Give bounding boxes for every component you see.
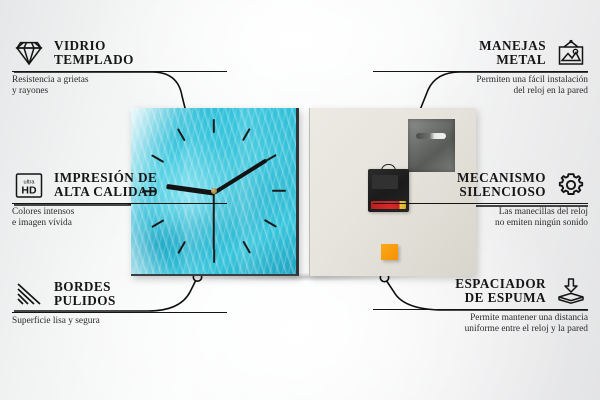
- feature-mechanism-desc: Las manecillas del reloj no emiten ningú…: [373, 207, 588, 230]
- feature-glass-title: VIDRIO TEMPLADO: [54, 39, 134, 68]
- feature-edges-desc-line1: Superficie lisa y segura: [12, 316, 227, 327]
- feature-hooks-desc: Permiten una fácil instalación del reloj…: [373, 75, 588, 98]
- metal-hanger-plate: [408, 119, 455, 172]
- feature-hooks-title-line2: METAL: [479, 53, 546, 68]
- feature-foam-head: ESPACIADOR DE ESPUMA: [373, 276, 588, 306]
- feature-mechanism: MECANISMO SILENCIOSO Las manecillas del …: [373, 170, 588, 230]
- feature-mechanism-title-line2: SILENCIOSO: [457, 185, 546, 200]
- feature-foam-title-line2: DE ESPUMA: [455, 291, 546, 306]
- feature-edges-title: BORDES PULIDOS: [54, 280, 116, 309]
- foam-spacer: [381, 244, 398, 260]
- feature-glass-desc-line2: y rayones: [12, 86, 227, 97]
- ultra-hd-badge-icon: ultra HD: [12, 170, 46, 200]
- feature-edges-title-line2: PULIDOS: [54, 294, 116, 309]
- feature-foam-title-line1: ESPACIADOR: [455, 277, 546, 292]
- feature-mechanism-head: MECANISMO SILENCIOSO: [373, 170, 588, 200]
- diamond-icon: [12, 38, 46, 68]
- feature-glass-head: VIDRIO TEMPLADO: [12, 38, 227, 68]
- hanger-slot: [416, 133, 446, 139]
- feature-print-desc-line1: Colores intensos: [12, 207, 227, 218]
- feature-glass-desc-line1: Resistencia a grietas: [12, 75, 227, 86]
- feature-foam-desc-line1: Permite mantener una distancia: [373, 313, 588, 324]
- feature-print-rule: [12, 203, 227, 204]
- feature-print-desc-line2: e imagen vívida: [12, 218, 227, 229]
- gear-icon: [554, 170, 588, 200]
- hour-tick: [212, 249, 214, 263]
- feature-glass-title-line2: TEMPLADO: [54, 53, 134, 68]
- infographic-canvas: VIDRIO TEMPLADO Resistencia a grietas y …: [0, 0, 600, 400]
- feature-print-desc: Colores intensos e imagen vívida: [12, 207, 227, 230]
- feature-hooks: MANEJAS METAL Permiten una fácil instala…: [373, 38, 588, 98]
- feature-print-title-line2: ALTA CALIDAD: [54, 185, 158, 200]
- hatched-triangle-icon: [12, 279, 46, 309]
- feature-hooks-desc-line2: del reloj en la pared: [373, 86, 588, 97]
- feature-foam-rule: [373, 309, 588, 310]
- feature-print-title-line1: IMPRESIÓN DE: [54, 171, 158, 186]
- feature-mechanism-title-line1: MECANISMO: [457, 171, 546, 186]
- feature-edges: BORDES PULIDOS Superficie lisa y segura: [12, 279, 227, 327]
- feature-glass: VIDRIO TEMPLADO Resistencia a grietas y …: [12, 38, 227, 98]
- feature-print-head: ultra HD IMPRESIÓN DE ALTA CALIDAD: [12, 170, 227, 200]
- framed-picture-on-nail-icon: [554, 38, 588, 68]
- feature-glass-title-line1: VIDRIO: [54, 39, 134, 54]
- feature-hooks-title-line1: MANEJAS: [479, 39, 546, 54]
- hour-tick: [212, 119, 214, 133]
- arrow-onto-foam-layers-icon: [554, 276, 588, 306]
- feature-hooks-title: MANEJAS METAL: [479, 39, 546, 68]
- feature-mechanism-rule: [373, 203, 588, 204]
- feature-mechanism-desc-line1: Las manecillas del reloj: [373, 207, 588, 218]
- ultra-hd-bottom-text: HD: [21, 184, 37, 196]
- feature-glass-desc: Resistencia a grietas y rayones: [12, 75, 227, 98]
- feature-glass-rule: [12, 71, 227, 72]
- feature-print-title: IMPRESIÓN DE ALTA CALIDAD: [54, 171, 158, 200]
- feature-hooks-rule: [373, 71, 588, 72]
- feature-edges-head: BORDES PULIDOS: [12, 279, 227, 309]
- feature-foam-desc: Permite mantener una distancia uniforme …: [373, 313, 588, 336]
- feature-hooks-desc-line1: Permiten una fácil instalación: [373, 75, 588, 86]
- feature-edges-rule: [12, 312, 227, 313]
- feature-foam: ESPACIADOR DE ESPUMA Permite mantener un…: [373, 276, 588, 336]
- feature-mechanism-title: MECANISMO SILENCIOSO: [457, 171, 546, 200]
- feature-edges-desc: Superficie lisa y segura: [12, 316, 227, 327]
- feature-mechanism-desc-line2: no emiten ningún sonido: [373, 218, 588, 229]
- feature-foam-desc-line2: uniforme entre el reloj y la pared: [373, 324, 588, 335]
- feature-print: ultra HD IMPRESIÓN DE ALTA CALIDAD Color…: [12, 170, 227, 230]
- feature-foam-title: ESPACIADOR DE ESPUMA: [455, 277, 546, 306]
- feature-edges-title-line1: BORDES: [54, 280, 116, 295]
- feature-hooks-head: MANEJAS METAL: [373, 38, 588, 68]
